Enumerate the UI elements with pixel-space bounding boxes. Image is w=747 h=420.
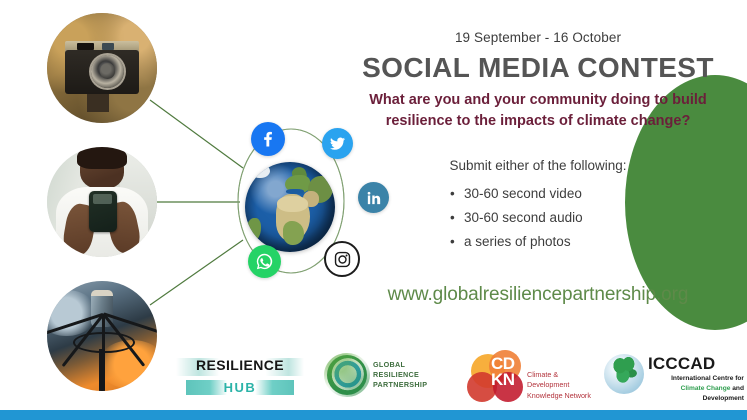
cdkn-logo: CD KN Climate & Development Knowledge Ne… <box>465 348 600 402</box>
cdkn-wordmark: CD KN <box>491 356 515 387</box>
resilience-hub-logo: RESILIENCE HUB <box>176 352 304 398</box>
instagram-icon[interactable] <box>324 241 360 277</box>
submission-options-list: 30-60 second video 30-60 second audio a … <box>450 182 583 254</box>
cdkn-line1: Climate & Development <box>527 370 600 391</box>
grp-wordmark: GLOBAL RESILIENCE PARTNERSHIP <box>373 360 427 390</box>
facebook-icon[interactable] <box>251 122 285 156</box>
resilience-hub-line1: RESILIENCE <box>176 357 304 373</box>
icccad-globe-icon <box>604 354 644 394</box>
icccad-line2b: and <box>732 385 744 392</box>
icccad-line2: Climate Change <box>681 385 731 392</box>
text-column: 19 September - 16 October SOCIAL MEDIA C… <box>358 0 718 340</box>
global-resilience-partnership-logo: GLOBAL RESILIENCE PARTNERSHIP <box>327 350 445 400</box>
dateline: 19 September - 16 October <box>358 30 718 45</box>
cdkn-mark2: KN <box>491 372 515 388</box>
twitter-icon[interactable] <box>322 128 353 159</box>
logo-strip: RESILIENCE HUB GLOBAL RESILIENCE PARTNER… <box>0 348 747 408</box>
camera-photo <box>47 13 157 123</box>
poster-canvas: 19 September - 16 October SOCIAL MEDIA C… <box>0 0 747 420</box>
icccad-tagline: International Centre for Climate Change … <box>648 374 744 404</box>
grp-line2: RESILIENCE <box>373 370 427 380</box>
globe-graphic <box>245 162 335 252</box>
icccad-logo: ICCCAD International Centre for Climate … <box>604 348 744 402</box>
grp-mark-icon <box>327 355 367 395</box>
list-item: 30-60 second audio <box>450 206 583 230</box>
icccad-line3: Development <box>648 394 744 404</box>
list-item: 30-60 second video <box>450 182 583 206</box>
bottom-blue-bar <box>0 410 747 420</box>
subtitle-question: What are you and your community doing to… <box>363 90 713 131</box>
icccad-wordmark: ICCCAD <box>648 354 715 374</box>
icccad-line1: International Centre for <box>648 374 744 384</box>
cdkn-line2: Knowledge Network <box>527 391 600 401</box>
whatsapp-icon[interactable] <box>248 245 281 278</box>
grp-line3: PARTNERSHIP <box>373 380 427 390</box>
website-url[interactable]: www.globalresiliencepartnership.org <box>358 284 718 306</box>
submit-label: Submit either of the following: <box>358 158 718 173</box>
list-item: a series of photos <box>450 230 583 254</box>
page-title: SOCIAL MEDIA CONTEST <box>358 52 718 84</box>
phone-photo <box>47 147 157 257</box>
cdkn-tagline: Climate & Development Knowledge Network <box>527 370 600 401</box>
grp-line1: GLOBAL <box>373 360 427 370</box>
resilience-hub-line2: HUB <box>186 380 294 395</box>
